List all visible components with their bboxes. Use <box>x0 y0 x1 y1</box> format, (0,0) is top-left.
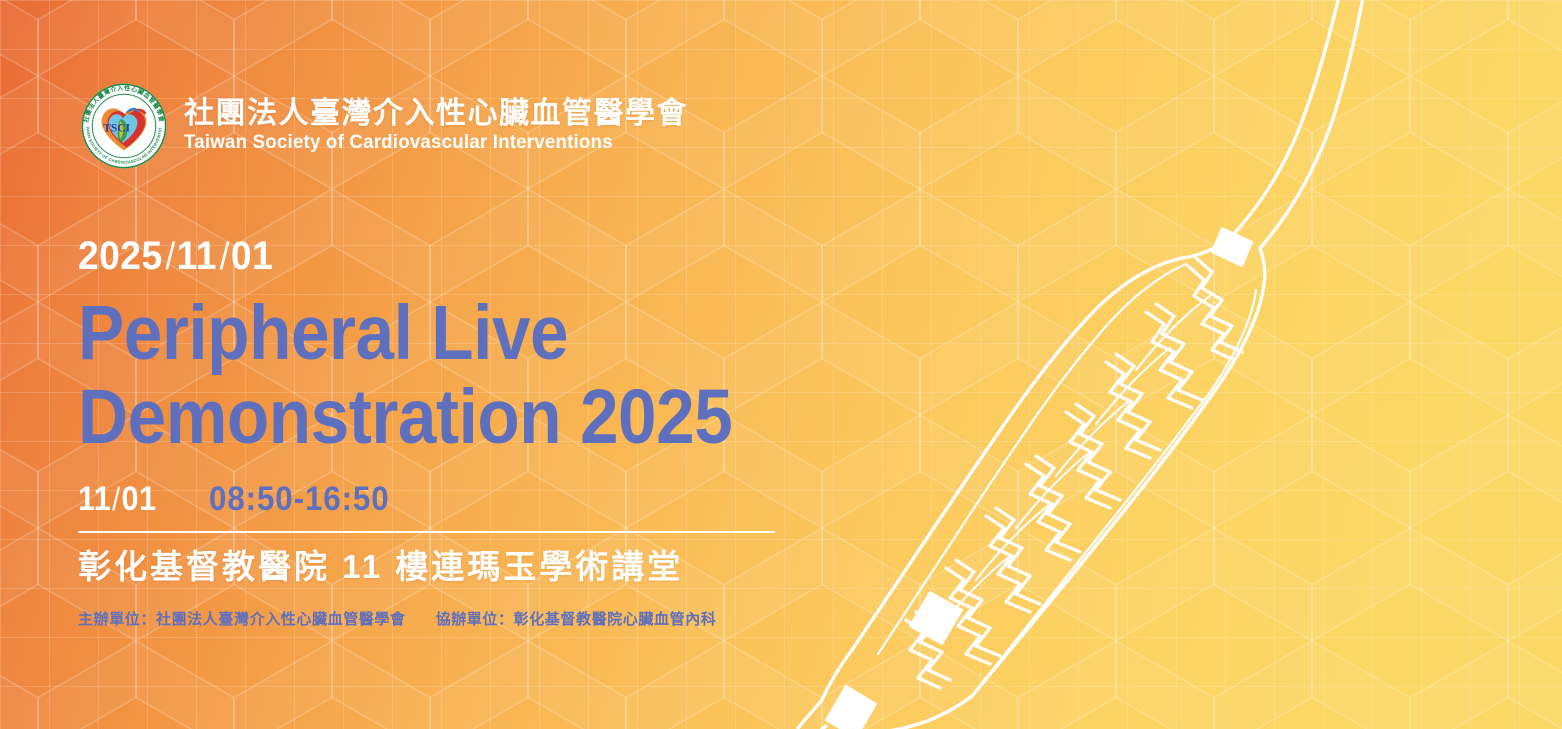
schedule-time-range: 08:50-16:50 <box>209 480 390 519</box>
event-date-day: 01 <box>231 234 273 278</box>
schedule-day: 11/01 <box>78 480 156 519</box>
schedule-day-month: 11 <box>78 480 111 518</box>
coronary-stent-illustration <box>790 0 1562 729</box>
society-name-block: 社團法人臺灣介入性心臟血管醫學會 Taiwan Society of Cardi… <box>184 98 688 154</box>
schedule-day-number: 01 <box>122 480 157 518</box>
event-venue: 彰化基督教醫院 11 樓連瑪玉學術講堂 <box>78 548 878 586</box>
seal-abbr-text: TSCI <box>103 123 130 135</box>
date-separator-1: / <box>165 236 175 278</box>
divider-line <box>78 531 775 533</box>
event-date: 2025/11/01 <box>78 236 822 276</box>
society-logo-lockup: 社團法人臺灣介入性心臟血管醫學會 TAIWAN SOCIETY OF CARDI… <box>78 80 688 172</box>
main-organizer: 主辦單位：社團法人臺灣介入性心臟血管醫學會 <box>78 608 406 629</box>
event-title-line-1: Peripheral Live <box>78 296 798 371</box>
event-banner: 社團法人臺灣介入性心臟血管醫學會 TAIWAN SOCIETY OF CARDI… <box>0 0 1562 729</box>
event-title: Peripheral Live Demonstration 2025 <box>78 296 878 454</box>
schedule-row: 11/01 08:50-16:50 <box>78 480 878 519</box>
event-title-line-2: Demonstration 2025 <box>78 380 798 455</box>
organizers-row: 主辦單位：社團法人臺灣介入性心臟血管醫學會 協辦單位：彰化基督教醫院心臟血管內科 <box>78 608 878 629</box>
society-name-en: Taiwan Society of Cardiovascular Interve… <box>184 131 668 153</box>
tsci-seal-logo: 社團法人臺灣介入性心臟血管醫學會 TAIWAN SOCIETY OF CARDI… <box>78 80 170 172</box>
society-name-zh: 社團法人臺灣介入性心臟血管醫學會 <box>184 98 688 130</box>
event-details-block: 2025/11/01 Peripheral Live Demonstration… <box>78 236 878 629</box>
co-organizer: 協辦單位：彰化基督教醫院心臟血管內科 <box>436 608 717 629</box>
event-date-year: 2025 <box>78 234 163 278</box>
schedule-day-separator: / <box>112 481 120 517</box>
date-separator-2: / <box>220 236 230 278</box>
event-date-month: 11 <box>177 234 217 278</box>
